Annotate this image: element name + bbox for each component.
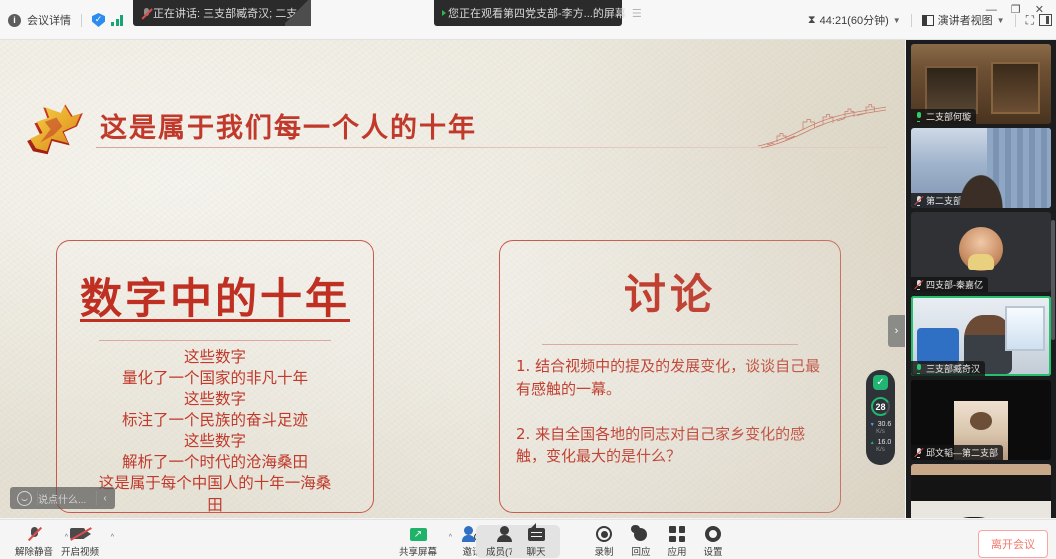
start-video-label: 开启视频	[48, 544, 112, 558]
meeting-info-label: 会议详情	[27, 12, 71, 28]
poem-line: 这是属于每个中国人的十年一海桑	[65, 473, 365, 494]
participant-name: 二支部何璇	[926, 110, 971, 123]
slide-title: 这是属于我们每一个人的十年	[100, 106, 477, 145]
title-divider	[96, 147, 888, 148]
poem-line: 这些数字	[65, 347, 365, 368]
poem-line: 量化了一个国家的非凡十年	[65, 368, 365, 389]
avatar	[959, 227, 1003, 271]
participant-nametag: 邱文韬—第二支部	[911, 445, 1003, 460]
network-speed-widget[interactable]: 28 30.6 K/s 16.0 K/s	[866, 370, 895, 465]
left-card-heading: 数字中的十年	[57, 265, 373, 326]
emoji-icon[interactable]	[17, 491, 32, 506]
hourglass-icon: ⧗	[808, 14, 816, 27]
participant-video-strip[interactable]: 二支部何璇 第二支部-张凯 四支部-秦嘉亿 三支部臧奇汉	[906, 40, 1056, 518]
participant-nametag: 第二支部-张凯	[911, 193, 988, 208]
mic-on-icon	[914, 363, 923, 374]
download-speed: 30.6 K/s	[866, 421, 895, 436]
info-icon: i	[8, 14, 21, 27]
chevron-down-icon[interactable]: ▼	[997, 16, 1005, 25]
resize-corner[interactable]	[285, 0, 311, 26]
share-screen-icon	[410, 528, 427, 541]
layout-icon	[922, 15, 934, 26]
poem-line: 这些数字	[65, 389, 365, 410]
slide-chat-bar[interactable]: 说点什么... ‹	[10, 487, 115, 509]
mic-on-icon	[914, 111, 923, 122]
video-tile[interactable]	[911, 464, 1051, 518]
divider	[81, 14, 82, 27]
left-card-divider	[99, 340, 331, 341]
right-card-body: 1. 结合视频中的提及的发展变化，谈谈自己最有感触的一幕。 2. 来自全国各地的…	[500, 345, 840, 468]
top-bar-right: ⧗ 44:21(60分钟) ▼ 演讲者视图 ▼ ⛶	[808, 12, 1052, 28]
right-content-card: 讨论 1. 结合视频中的提及的发展变化，谈谈自己最有感触的一幕。 2. 来自全国…	[499, 240, 841, 513]
video-tile-active-speaker[interactable]: 三支部臧奇汉	[911, 296, 1051, 376]
start-video-button[interactable]: 开启视频 ^	[48, 525, 112, 558]
left-content-card: 数字中的十年 这些数字 量化了一个国家的非凡十年 这些数字 标注了一个民族的奋斗…	[56, 240, 374, 513]
video-tile[interactable]: 四支部-秦嘉亿	[911, 212, 1051, 292]
meeting-window: i 会议详情 — ❐ ✕ ⧗ 44:21(60分钟) ▼ 演讲者视图 ▼	[0, 0, 1056, 559]
poem-line: 这些数字	[65, 431, 365, 452]
presentation-slide: 这是属于我们每一个人的十年 数字中的十年	[0, 40, 905, 518]
menu-icon[interactable]: ☰	[632, 7, 642, 20]
chat-button[interactable]: 聊天	[512, 525, 560, 558]
slide-chat-placeholder[interactable]: 说点什么...	[38, 491, 96, 506]
cpu-usage-ring: 28	[869, 395, 892, 418]
download-unit: K/s	[876, 429, 885, 435]
view-mode-selector[interactable]: 演讲者视图 ▼	[922, 12, 1005, 28]
video-tile[interactable]: 二支部何璇	[911, 44, 1051, 124]
participants-icon	[495, 526, 514, 542]
meeting-info-group[interactable]: i 会议详情	[8, 12, 123, 28]
signal-bars-icon[interactable]	[111, 14, 123, 26]
left-card-body: 这些数字 量化了一个国家的非凡十年 这些数字 标注了一个民族的奋斗足迹 这些数字…	[57, 347, 373, 516]
mic-muted-icon	[914, 195, 923, 206]
settings-gear-icon	[705, 526, 721, 542]
discussion-question-2: 2. 来自全国各地的同志对自己家乡变化的感触，变化最大的是什么？	[516, 423, 824, 469]
participant-nametag: 二支部何璇	[911, 109, 976, 124]
discussion-question-1: 1. 结合视频中的提及的发展变化，谈谈自己最有感触的一幕。	[516, 355, 824, 401]
split-view-icon[interactable]	[1039, 14, 1052, 26]
upload-unit: K/s	[876, 447, 885, 453]
download-value: 30.6	[878, 421, 892, 428]
strip-scrollbar[interactable]	[1051, 220, 1055, 340]
expand-icon[interactable]: ⛶	[1026, 13, 1033, 28]
chevron-left-icon[interactable]: ‹	[97, 493, 112, 504]
upload-speed: 16.0 K/s	[866, 439, 895, 454]
bottom-toolbar: 解除静音 ^ 开启视频 ^ 共享屏幕 ^ 邀请 成员(75) 聊天 录制	[0, 519, 1056, 559]
meeting-timer-label: 44:21(60分钟)	[820, 12, 889, 28]
divider	[37, 491, 38, 505]
great-wall-illustration	[757, 102, 887, 150]
active-speaker-label: 正在讲话: 三支部臧奇汉; 二支...	[153, 5, 306, 21]
cpu-usage-value: 28	[873, 399, 888, 414]
active-speaker-pill[interactable]: 正在讲话: 三支部臧奇汉; 二支...	[133, 0, 311, 26]
collapse-sidebar-button[interactable]: ›	[888, 315, 905, 347]
participant-name: 三支部臧奇汉	[926, 362, 980, 375]
shield-check-icon	[873, 375, 888, 390]
right-card-divider	[542, 344, 798, 345]
settings-label: 设置	[681, 544, 745, 558]
meeting-timer[interactable]: ⧗ 44:21(60分钟) ▼	[808, 12, 901, 28]
screen-share-pill[interactable]: 您正在观看第四党支部-李方...的屏幕 ☰	[434, 0, 622, 26]
party-emblem-icon	[18, 97, 92, 163]
leave-meeting-button[interactable]: 离开会议	[978, 530, 1048, 558]
right-card-heading: 讨论	[500, 261, 840, 322]
mic-muted-icon	[914, 279, 923, 290]
view-mode-label: 演讲者视图	[938, 12, 993, 28]
screen-share-label: 您正在观看第四党支部-李方...的屏幕	[448, 5, 626, 21]
divider	[96, 491, 97, 505]
participant-nametag: 三支部臧奇汉	[911, 361, 985, 376]
video-tile[interactable]: 邱文韬—第二支部	[911, 380, 1051, 460]
chevron-down-icon[interactable]: ▼	[893, 16, 901, 25]
mic-muted-icon	[914, 447, 923, 458]
participant-nametag: 四支部-秦嘉亿	[911, 277, 988, 292]
participant-name: 邱文韬—第二支部	[926, 446, 998, 459]
poem-line: 标注了一个民族的奋斗足迹	[65, 410, 365, 431]
camera-off-icon	[70, 527, 91, 541]
participant-name: 四支部-秦嘉亿	[926, 278, 983, 291]
shield-check-icon[interactable]	[92, 13, 105, 27]
divider	[1015, 14, 1016, 27]
shared-screen-stage[interactable]: 这是属于我们每一个人的十年 数字中的十年	[0, 40, 905, 518]
poem-line: 田	[65, 495, 365, 516]
video-tile[interactable]: 第二支部-张凯	[911, 128, 1051, 208]
chat-label: 聊天	[512, 544, 560, 558]
divider	[911, 14, 912, 27]
settings-button[interactable]: 设置	[681, 525, 745, 558]
chevron-up-icon[interactable]: ^	[111, 534, 114, 541]
mic-muted-icon	[27, 526, 42, 543]
upload-value: 16.0	[878, 439, 892, 446]
poem-line: 解析了一个时代的沧海桑田	[65, 452, 365, 473]
participant-name: 第二支部-张凯	[926, 194, 983, 207]
chat-icon	[528, 528, 545, 541]
